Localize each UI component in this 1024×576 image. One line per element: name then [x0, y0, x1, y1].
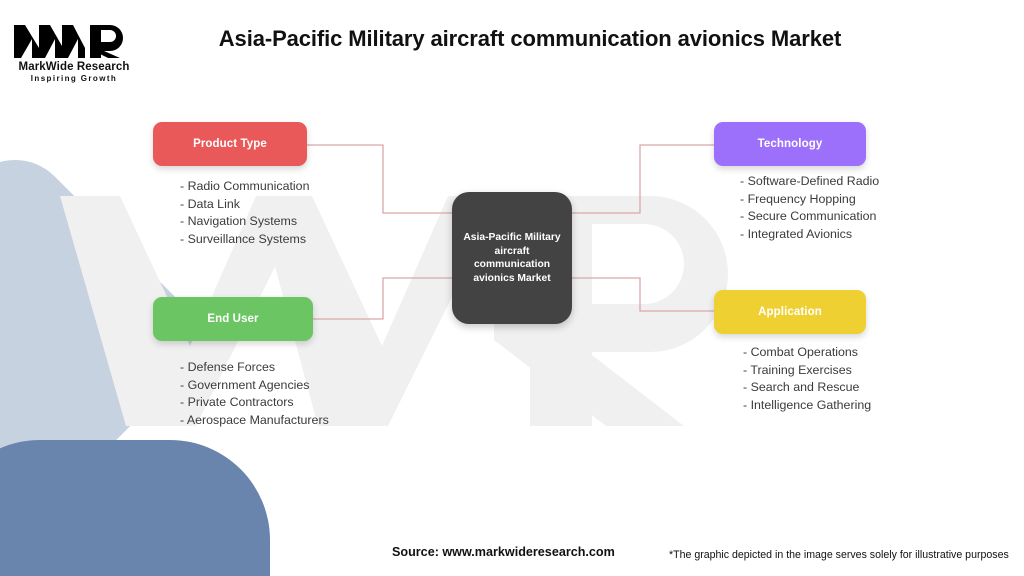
center-node-line-4: avionics Market	[473, 272, 550, 286]
connector-product-type	[307, 145, 452, 213]
connector-end-user	[313, 278, 452, 319]
center-node-line-3: communication	[474, 258, 550, 272]
list-item: - Radio Communication	[180, 178, 309, 196]
center-node-line-1: Asia-Pacific Military	[463, 231, 560, 245]
list-item: - Integrated Avionics	[740, 226, 879, 244]
source-text: Source: www.markwideresearch.com	[392, 545, 615, 559]
list-item: - Private Contractors	[180, 394, 329, 412]
list-item: - Government Agencies	[180, 377, 329, 395]
list-item: - Secure Communication	[740, 208, 879, 226]
branch-label-application[interactable]: Application	[714, 290, 866, 334]
list-item: - Intelligence Gathering	[743, 397, 871, 415]
center-node-line-2: aircraft	[495, 245, 530, 259]
list-item: - Software-Defined Radio	[740, 173, 879, 191]
center-node: Asia-Pacific Military aircraft communica…	[452, 192, 572, 324]
branch-items-technology: - Software-Defined Radio - Frequency Hop…	[740, 173, 879, 243]
connector-application	[572, 278, 714, 311]
branch-items-end-user: - Defense Forces - Government Agencies -…	[180, 359, 329, 429]
list-item: - Surveillance Systems	[180, 231, 309, 249]
branch-items-product-type: - Radio Communication - Data Link - Navi…	[180, 178, 309, 248]
list-item: - Defense Forces	[180, 359, 329, 377]
branch-label-product-type[interactable]: Product Type	[153, 122, 307, 166]
list-item: - Search and Rescue	[743, 379, 871, 397]
branch-items-application: - Combat Operations - Training Exercises…	[743, 344, 871, 414]
list-item: - Data Link	[180, 196, 309, 214]
list-item: - Aerospace Manufacturers	[180, 412, 329, 430]
connector-technology	[572, 145, 714, 213]
disclaimer-text: *The graphic depicted in the image serve…	[669, 549, 1009, 561]
list-item: - Training Exercises	[743, 362, 871, 380]
list-item: - Frequency Hopping	[740, 191, 879, 209]
list-item: - Combat Operations	[743, 344, 871, 362]
branch-label-technology[interactable]: Technology	[714, 122, 866, 166]
branch-label-end-user[interactable]: End User	[153, 297, 313, 341]
list-item: - Navigation Systems	[180, 213, 309, 231]
infographic-canvas: MarkWide Research Inspiring Growth Asia-…	[0, 0, 1024, 576]
